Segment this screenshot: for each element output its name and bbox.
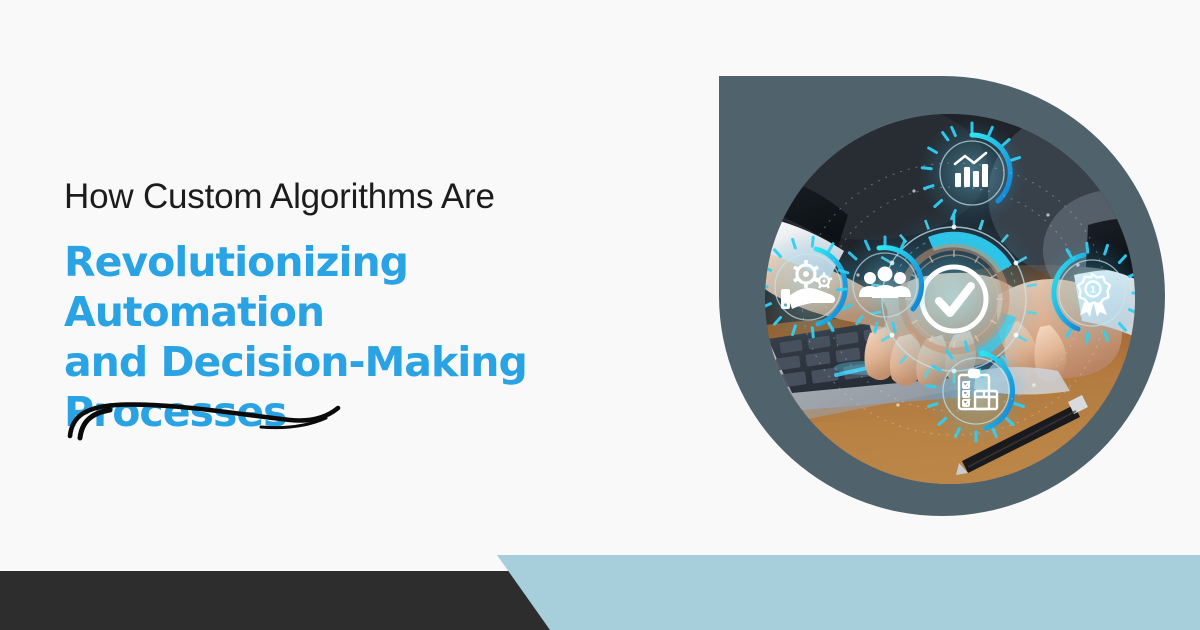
banner-canvas: 1 (0, 0, 1200, 630)
hud-bar-chart (918, 119, 1026, 227)
headline-line-2: and Decision-Making (64, 337, 674, 387)
underline-flourish-icon (58, 390, 348, 446)
hero-image: 1 (718, 75, 1166, 517)
hud-people-group (833, 233, 937, 337)
headline-line-1: Revolutionizing Automation (64, 237, 674, 337)
footer-dark-band (0, 571, 560, 630)
kicker-text: How Custom Algorithms Are (64, 176, 674, 217)
svg-text:1: 1 (1090, 286, 1096, 296)
hud-clipboard-checklist (922, 337, 1030, 445)
